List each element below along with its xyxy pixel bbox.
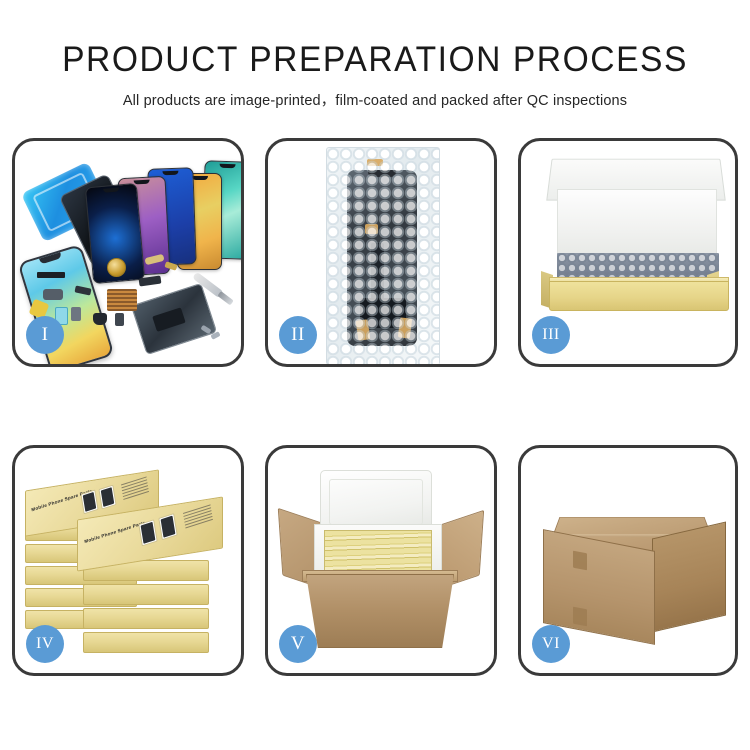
- foam-sheet-icon: [557, 189, 717, 261]
- carton-body-icon: [306, 574, 454, 648]
- yellow-box-front-icon: [549, 281, 729, 311]
- stacked-box: [83, 632, 209, 653]
- page-header: PRODUCT PREPARATION PROCESS All products…: [0, 0, 750, 128]
- copper-grid-part-icon: [107, 289, 137, 311]
- step-badge-4: IV: [26, 625, 64, 663]
- motherboard-icon: [131, 283, 217, 355]
- tape-icon: [367, 159, 383, 166]
- spare-part-icon: [93, 313, 107, 325]
- box-phone-image: [158, 513, 177, 540]
- yellow-boxes-inside-icon: [324, 530, 432, 572]
- process-step-panel-5[interactable]: V: [265, 445, 497, 676]
- process-step-panel-6[interactable]: VI: [518, 445, 738, 676]
- process-step-grid: I II III: [0, 138, 750, 698]
- bubble-wrap-bag-icon: [326, 147, 440, 364]
- spare-part-icon: [43, 289, 63, 300]
- step-badge-5: V: [279, 625, 317, 663]
- speaker-part-icon: [107, 258, 126, 277]
- spare-part-icon: [115, 313, 124, 326]
- step-badge-2: II: [279, 316, 317, 354]
- carton-tape-icon: [573, 551, 587, 571]
- tape-icon: [398, 317, 412, 338]
- step-badge-6: VI: [532, 625, 570, 663]
- tape-icon: [365, 224, 378, 234]
- carton-side-icon: [652, 521, 726, 632]
- process-step-panel-1[interactable]: I: [12, 138, 244, 367]
- process-step-panel-3[interactable]: III: [518, 138, 738, 367]
- tape-icon: [356, 319, 371, 340]
- step-badge-1: I: [26, 316, 64, 354]
- carton-tape-icon: [573, 607, 587, 627]
- screen-flex-cable-icon: [371, 243, 384, 305]
- stacked-box: [83, 584, 209, 605]
- spare-part-icon: [71, 307, 81, 321]
- step-badge-3: III: [532, 316, 570, 354]
- page-title: PRODUCT PREPARATION PROCESS: [15, 40, 735, 80]
- chip-bar-part-icon: [37, 272, 65, 278]
- stacked-box: [83, 608, 209, 629]
- process-step-panel-2[interactable]: II: [265, 138, 497, 367]
- page-subtitle: All products are image-printed，film-coat…: [0, 89, 750, 110]
- process-step-panel-4[interactable]: Mobile Phone Spare Parts Mobile Phone Sp…: [12, 445, 244, 676]
